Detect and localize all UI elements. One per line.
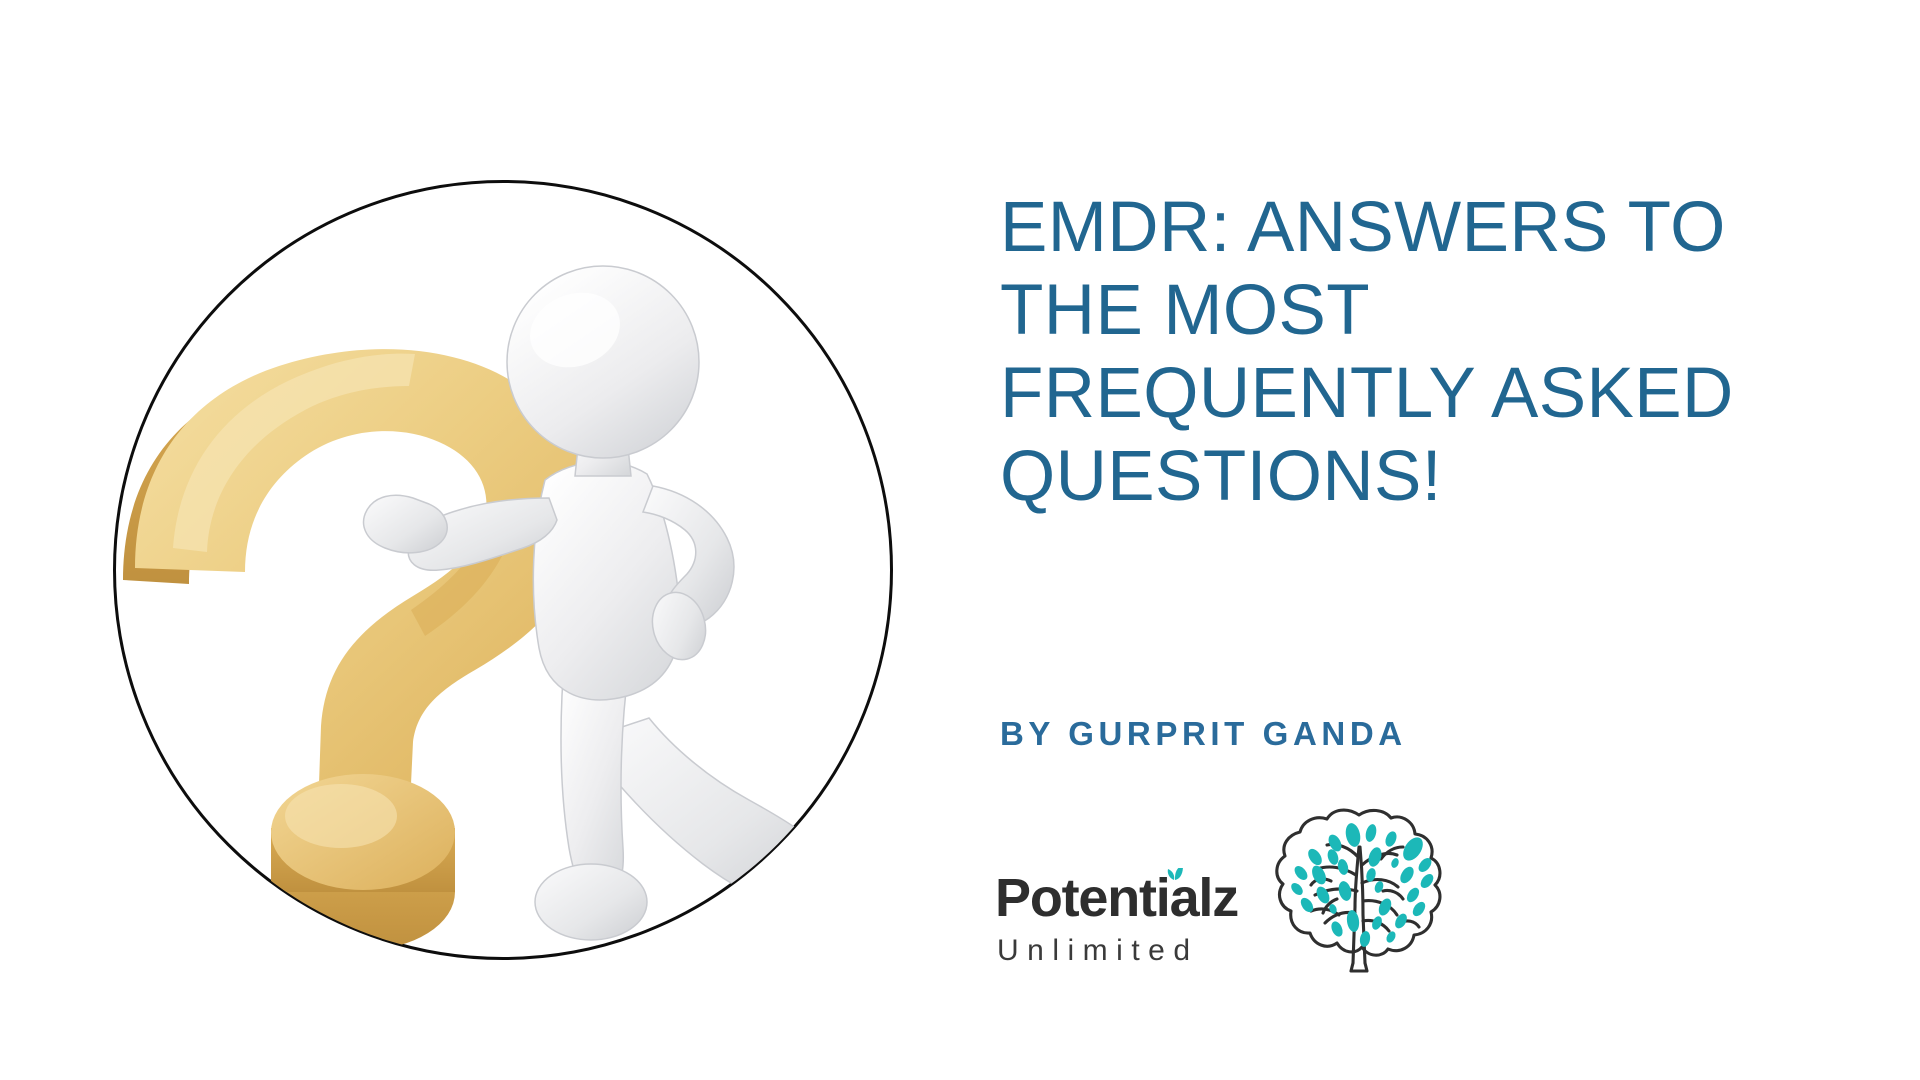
figure-back-foot [761,837,866,928]
figure-left-hand [364,495,448,553]
title-slide: EMDR: ANSWERS TO THE MOST FREQUENTLY ASK… [0,0,1920,1080]
figure-head [507,266,699,458]
content-column: EMDR: ANSWERS TO THE MOST FREQUENTLY ASK… [1000,186,1860,518]
page-title: EMDR: ANSWERS TO THE MOST FREQUENTLY ASK… [1000,186,1860,518]
brand-logo-lockup[interactable]: Potentialz Unlimited [995,790,1455,980]
byline-author: BY GURPRIT GANDA [1000,715,1407,753]
wordmark-secondary-text: Unlimited [997,934,1199,967]
figure-front-foot [535,864,647,940]
wordmark-primary-text: Potentialz [995,868,1238,928]
brain-tree-icon [1267,795,1447,975]
potentialz-unlimited-wordmark: Potentialz Unlimited [995,868,1265,973]
question-mark-figure-illustration [113,180,893,960]
